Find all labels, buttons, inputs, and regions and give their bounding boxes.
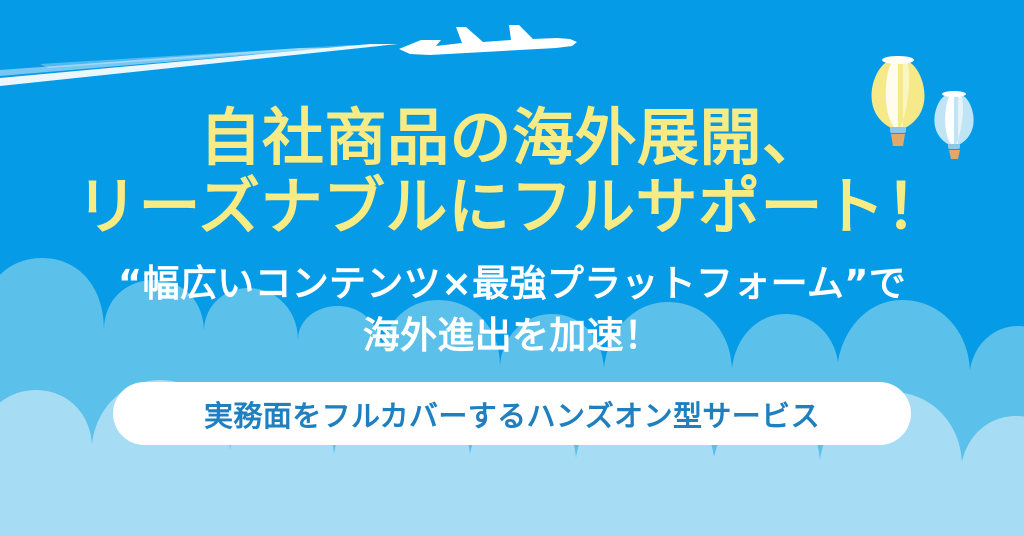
service-pill-label: 実務面をフルカバーするハンズオン型サービス [204,393,820,435]
subheadline-line-2: 海外進出を加速！ [363,310,661,362]
headline-line-2: リーズナブルにフルサポート！ [76,172,948,242]
subheadline-line-1: “幅広いコンテンツ×最強プラットフォーム”で [118,258,906,310]
service-pill-badge[interactable]: 実務面をフルカバーするハンズオン型サービス [113,382,911,445]
hero-banner: 自社商品の海外展開、 リーズナブルにフルサポート！ “幅広いコンテンツ×最強プラ… [0,0,1024,536]
headline-line-1: 自社商品の海外展開、 [199,103,824,173]
banner-content: 自社商品の海外展開、 リーズナブルにフルサポート！ “幅広いコンテンツ×最強プラ… [0,0,1024,536]
